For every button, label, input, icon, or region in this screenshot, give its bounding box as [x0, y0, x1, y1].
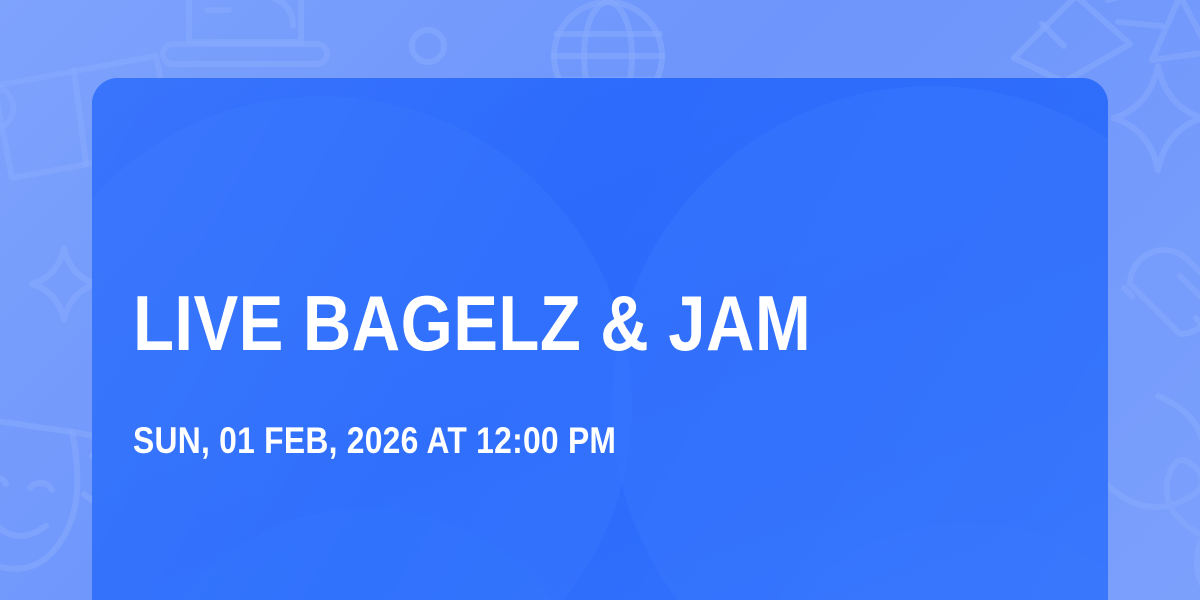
laptop-icon [155, 0, 335, 86]
event-banner: LIVE BAGELZ & JAM SUN, 01 FEB, 2026 AT 1… [0, 0, 1200, 600]
sparkle-icon [1104, 52, 1200, 182]
event-title: LIVE BAGELZ & JAM [133, 284, 811, 362]
event-card: LIVE BAGELZ & JAM SUN, 01 FEB, 2026 AT 1… [92, 78, 1108, 600]
microphone-icon [1110, 226, 1200, 376]
confetti-popper-icon [990, 0, 1190, 88]
card-content: LIVE BAGELZ & JAM SUN, 01 FEB, 2026 AT 1… [133, 78, 1068, 600]
event-datetime: SUN, 01 FEB, 2026 AT 12:00 PM [133, 422, 616, 459]
party-hat-icon [1140, 0, 1200, 80]
ring-icon [398, 16, 458, 76]
